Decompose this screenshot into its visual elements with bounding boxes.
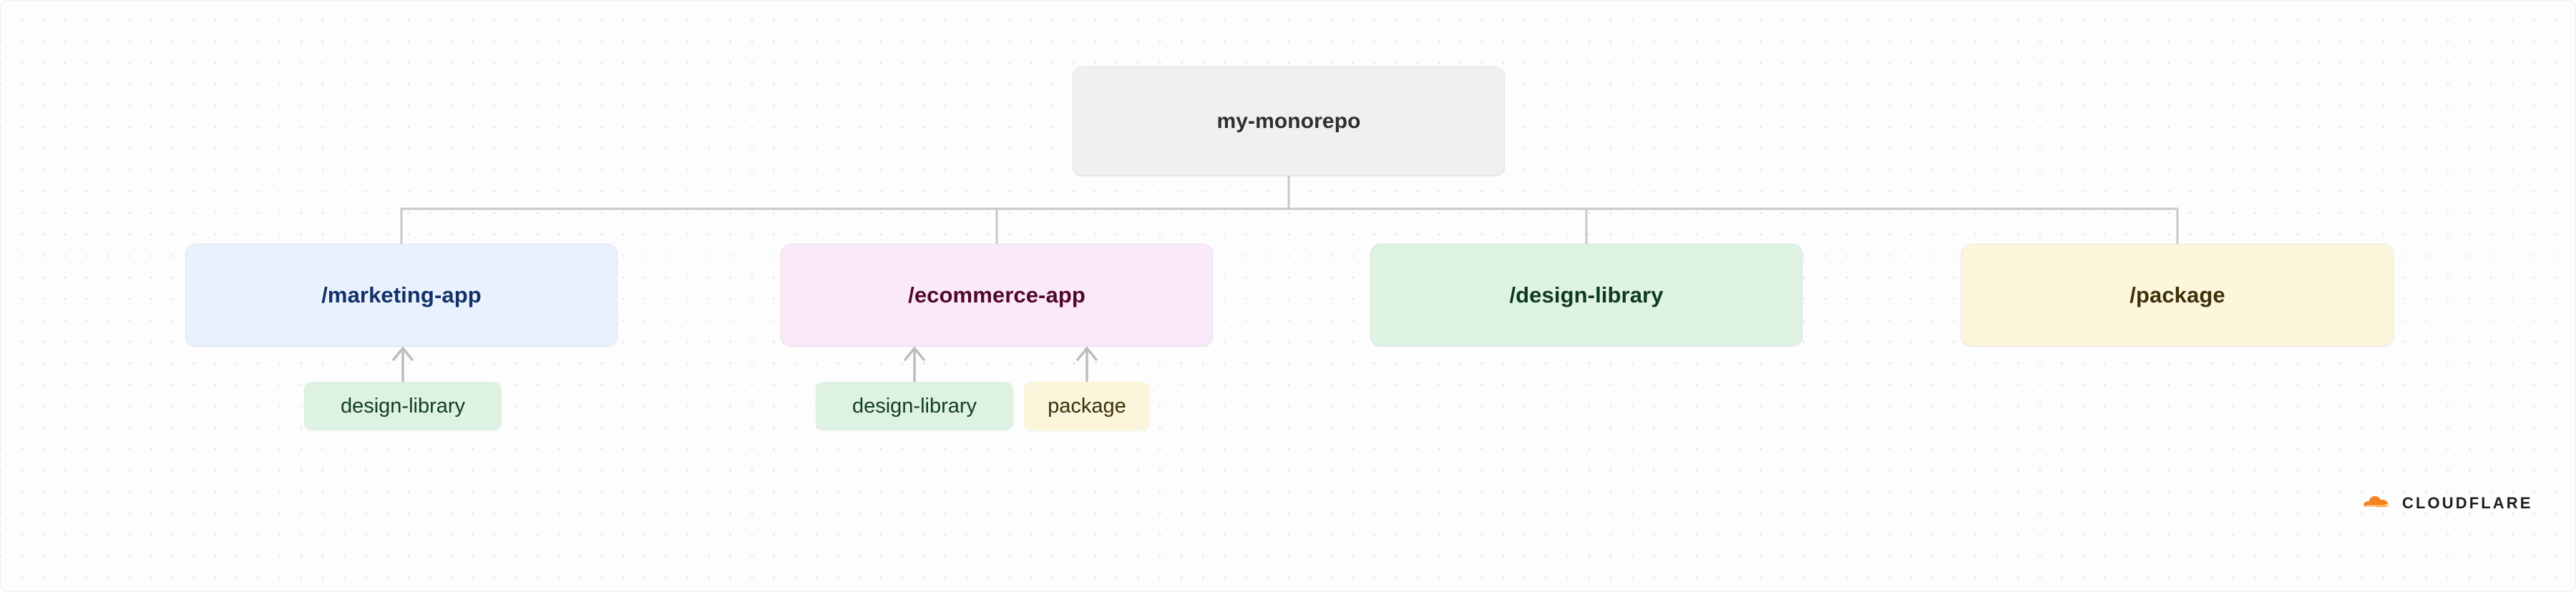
cloudflare-logo: CLOUDFLARE [2353,494,2533,513]
diagram-canvas: my-monorepo /marketing-app /ecommerce-ap… [0,0,2576,592]
node-label: /package [2129,282,2225,308]
node-my-monorepo[interactable]: my-monorepo [1073,66,1505,176]
dependency-pill-ecommerce-package[interactable]: package [1024,382,1150,430]
node-label: /design-library [1509,282,1663,308]
cloudflare-wordmark: CLOUDFLARE [2402,495,2533,511]
dependency-label: package [1048,395,1126,418]
dependency-pill-ecommerce-design-library[interactable]: design-library [816,382,1013,430]
node-package[interactable]: /package [1961,244,2394,346]
dependency-label: design-library [341,395,465,418]
node-design-library[interactable]: /design-library [1370,244,1802,346]
node-label: /marketing-app [321,282,482,308]
node-label: my-monorepo [1216,109,1360,134]
dep-arrow-marketing-design-library [394,348,412,382]
dependency-label: design-library [852,395,977,418]
node-label: /ecommerce-app [908,282,1085,308]
node-marketing-app[interactable]: /marketing-app [185,244,618,346]
node-ecommerce-app[interactable]: /ecommerce-app [781,244,1213,346]
cloudflare-cloud-icon [2353,494,2394,513]
dep-arrow-ecommerce-design-library [905,348,924,382]
dependency-pill-marketing-design-library[interactable]: design-library [304,382,502,430]
dep-arrow-ecommerce-package [1078,348,1096,382]
